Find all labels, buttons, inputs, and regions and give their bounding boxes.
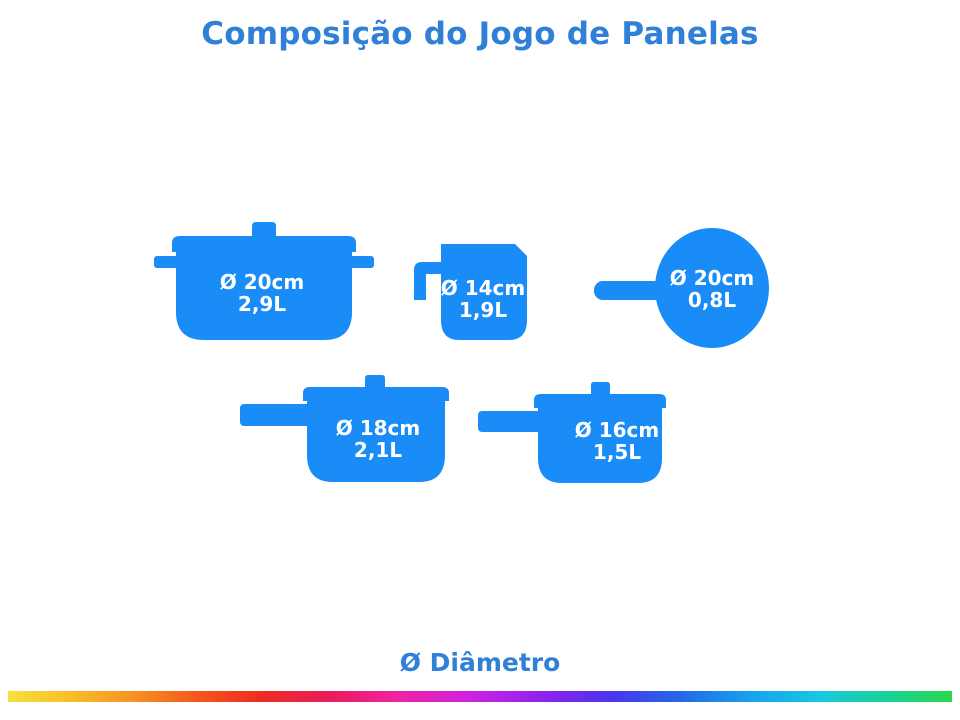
stockpot-lid-icon — [172, 236, 356, 252]
shape-stockpot-with-lid — [154, 222, 374, 340]
shape-saucepan-16 — [478, 382, 666, 483]
rainbow-divider-bar — [8, 691, 952, 702]
shape-frying-pan — [594, 228, 769, 348]
shape-saucepan-18 — [240, 375, 449, 482]
saucepan-18-lid-icon — [303, 387, 449, 401]
saucepan-16-lid-knob-icon — [591, 382, 610, 394]
shape-milk-pan — [414, 244, 527, 340]
saucepan-16-lid-icon — [534, 394, 666, 408]
saucepan-18-lid-knob-icon — [365, 375, 385, 387]
milk-pan-body-icon — [441, 244, 527, 340]
legend-diameter-note: Ø Diâmetro — [0, 648, 960, 677]
infographic-canvas: Composição do Jogo de Panelas — [0, 0, 960, 720]
saucepan-16-body-icon — [538, 408, 662, 483]
cookware-shapes — [0, 0, 960, 720]
frying-pan-body-icon — [655, 228, 769, 348]
stockpot-body-icon — [176, 252, 352, 340]
saucepan-18-body-icon — [307, 401, 445, 482]
stockpot-lid-knob-icon — [252, 222, 276, 236]
